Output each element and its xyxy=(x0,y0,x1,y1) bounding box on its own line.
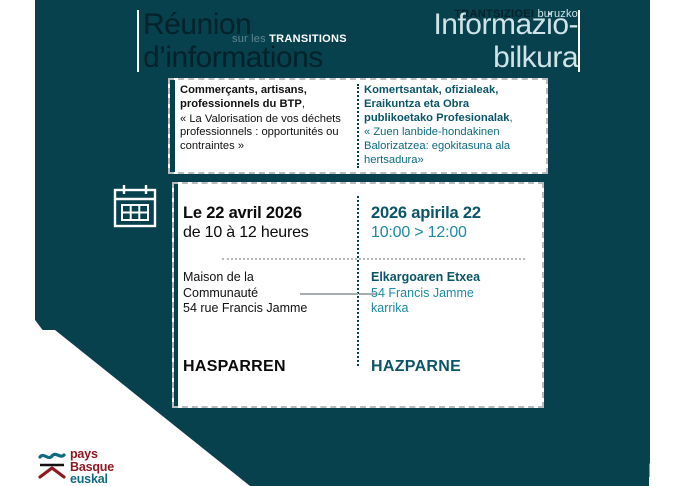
subject-lead-basque: Komertsantak, ofizialeak, Eraikuntza eta… xyxy=(364,84,509,124)
poster-canvas: Réunion d’informations sur les TRANSITIO… xyxy=(0,0,680,486)
header-kicker-french: sur les TRANSITIONS xyxy=(232,33,347,45)
time-basque: 10:00 > 12:00 xyxy=(371,223,541,242)
details-separator-dotted-left xyxy=(222,258,357,260)
subject-quote-french: « La Valorisation de vos déchets profess… xyxy=(180,113,352,154)
venue-name-basque: Elkargoaren Etxea xyxy=(371,270,536,286)
header-title-basque: Informazio- bilkura xyxy=(366,8,578,74)
date-block-basque: 2026 apirila 22 10:00 > 12:00 xyxy=(371,204,541,242)
header-kicker-french-strong: TRANSITIONS xyxy=(269,33,347,45)
time-french: de 10 à 12 heures xyxy=(183,223,353,242)
subject-text-basque: Komertsantak, ofizialeak, Eraikuntza eta… xyxy=(364,84,536,167)
details-card-divider xyxy=(357,196,359,366)
subject-lead-french: Commerçants, artisans, professionnels du… xyxy=(180,84,307,110)
poster-header: Réunion d’informations sur les TRANSITIO… xyxy=(0,0,680,82)
header-rule-basque xyxy=(578,10,580,72)
pays-basque-logo-words: pays Basque euskal xyxy=(70,448,114,486)
pays-basque-logo: pays Basque euskal xyxy=(38,448,168,486)
venue-street-basque: 54 Francis Jamme karrika xyxy=(371,286,536,317)
header-kicker-french-small: sur les xyxy=(232,33,269,45)
subject-quote-basque: « Zuen lanbide-hondakinen Balorizatzea: … xyxy=(364,126,536,167)
header-rule-french xyxy=(137,10,139,72)
subject-card-accent-bar xyxy=(170,80,175,172)
date-basque: 2026 apirila 22 xyxy=(371,204,541,223)
calendar-icon xyxy=(111,183,159,229)
logo-line-euskal: euskal xyxy=(70,473,114,486)
subject-text-french: Commerçants, artisans, professionnels du… xyxy=(180,84,352,153)
venue-french: Maison de la Communauté 54 rue Francis J… xyxy=(183,270,343,317)
subject-lead-tail-french: , xyxy=(302,98,305,110)
venue-basque: Elkargoaren Etxea 54 Francis Jamme karri… xyxy=(371,270,536,317)
city-french: HASPARREN xyxy=(183,358,286,376)
city-basque: HAZPARNE xyxy=(371,358,461,376)
logo-line-pays: pays xyxy=(70,448,114,461)
subject-lead-tail-basque: , xyxy=(509,112,512,124)
date-block-french: Le 22 avril 2026 de 10 à 12 heures xyxy=(183,204,353,242)
subject-card-divider xyxy=(357,84,359,168)
details-separator-dotted-right xyxy=(359,258,525,260)
pays-basque-logo-mark-icon xyxy=(38,450,66,480)
details-card-accent-bar xyxy=(174,184,178,406)
date-french: Le 22 avril 2026 xyxy=(183,204,353,223)
